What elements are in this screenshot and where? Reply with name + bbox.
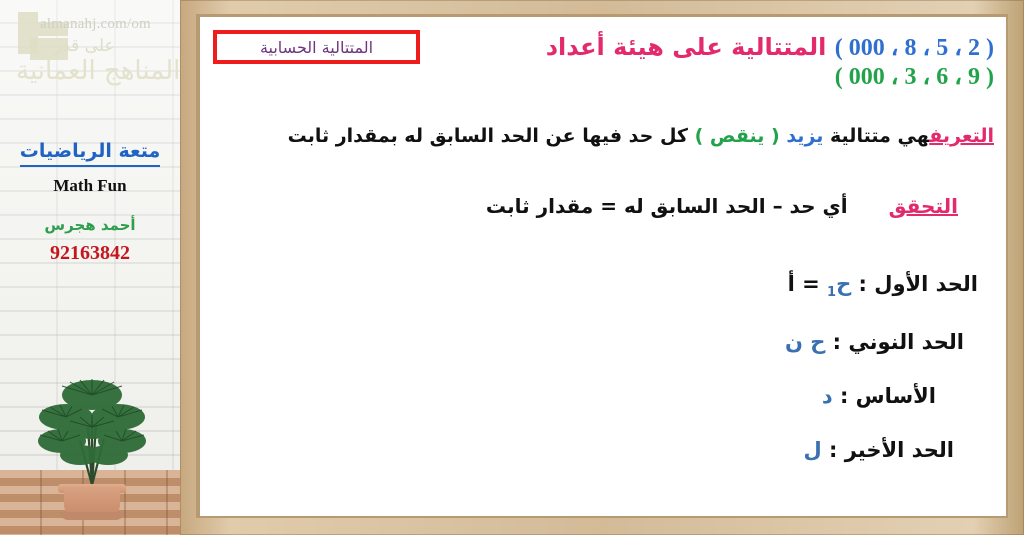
term-symbol: ل (803, 438, 821, 462)
brand-arabic-title-wrap: متعة الرياضيات (0, 140, 180, 167)
author-name: أحمد هجرس (0, 216, 180, 234)
term-row: الأساس : د (785, 384, 936, 408)
brand-arabic-title: متعة الرياضيات (20, 140, 160, 167)
term-symbol: ح (810, 330, 825, 354)
term-row: الحد الأول : ح1 = أ (785, 272, 978, 300)
term-label: الحد الأول : (859, 272, 978, 296)
sequence-lead-text: المتتالية على هيئة أعداد (546, 33, 827, 61)
definition-part-1: هي متتالية (830, 125, 929, 147)
potted-palm-plant-icon (22, 355, 162, 520)
term-equals: = أ (788, 272, 820, 296)
palm-foliage-icon (22, 355, 162, 495)
sequence-numbers-green: ( 9 ، 6 ، 3 ، 000 ) (835, 64, 994, 90)
sequence-row-2: ( 9 ، 6 ، 3 ، 000 ) (546, 62, 994, 91)
sequence-row-1: ( 2 ، 5 ، 8 ، 000 ) المتتالية على هيئة أ… (546, 33, 994, 62)
whiteboard-surface: المتتالية الحسابية ( 2 ، 5 ، 8 ، 000 ) ا… (200, 17, 1006, 516)
term-subscript: ن (785, 330, 803, 354)
terms-list: الحد الأول : ح1 = أ الحد النوني : ح ن ال… (785, 272, 978, 462)
term-subscript: 1 (827, 285, 836, 300)
verification-tag: التحقق (889, 194, 958, 218)
verification-statement: أي حد – الحد السابق له = مقدار ثابت (486, 194, 848, 218)
definition-tag: التعريف (929, 125, 994, 147)
brand-english-title: Math Fun (0, 176, 180, 196)
term-row: الحد النوني : ح ن (785, 330, 964, 354)
verification-line: التحقق أي حد – الحد السابق له = مقدار ثا… (486, 194, 958, 218)
term-symbol: د (822, 384, 833, 408)
slide-canvas: almanahj.com/om على قدر المناهج العمانية… (0, 0, 1024, 535)
term-label: الحد الأخير : (829, 438, 954, 462)
term-label: الحد النوني : (833, 330, 964, 354)
definition-word-decrease: ( ينقص ) (695, 125, 780, 147)
definition-line: التعريفهي متتالية يزيد ( ينقص ) كل حد في… (212, 125, 994, 147)
lesson-title-badge: المتتالية الحسابية (213, 30, 420, 64)
sequence-examples: ( 2 ، 5 ، 8 ، 000 ) المتتالية على هيئة أ… (546, 33, 994, 92)
whiteboard-frame: المتتالية الحسابية ( 2 ، 5 ، 8 ، 000 ) ا… (180, 0, 1024, 535)
term-label: الأساس : (840, 384, 936, 408)
lesson-title-text: المتتالية الحسابية (260, 38, 373, 57)
branding-panel: متعة الرياضيات Math Fun أحمد هجرس 921638… (0, 140, 180, 265)
definition-word-increase: يزيد (786, 125, 823, 147)
phone-number: 92163842 (0, 242, 180, 265)
plant-pot (64, 487, 120, 514)
definition-part-2: كل حد فيها عن الحد السابق له بمقدار ثابت (288, 125, 688, 147)
term-row: الحد الأخير : ل (785, 438, 954, 462)
plant-pot-saucer (60, 512, 124, 520)
sequence-numbers-blue: ( 2 ، 5 ، 8 ، 000 ) (835, 35, 994, 61)
term-symbol: ح (836, 272, 851, 296)
